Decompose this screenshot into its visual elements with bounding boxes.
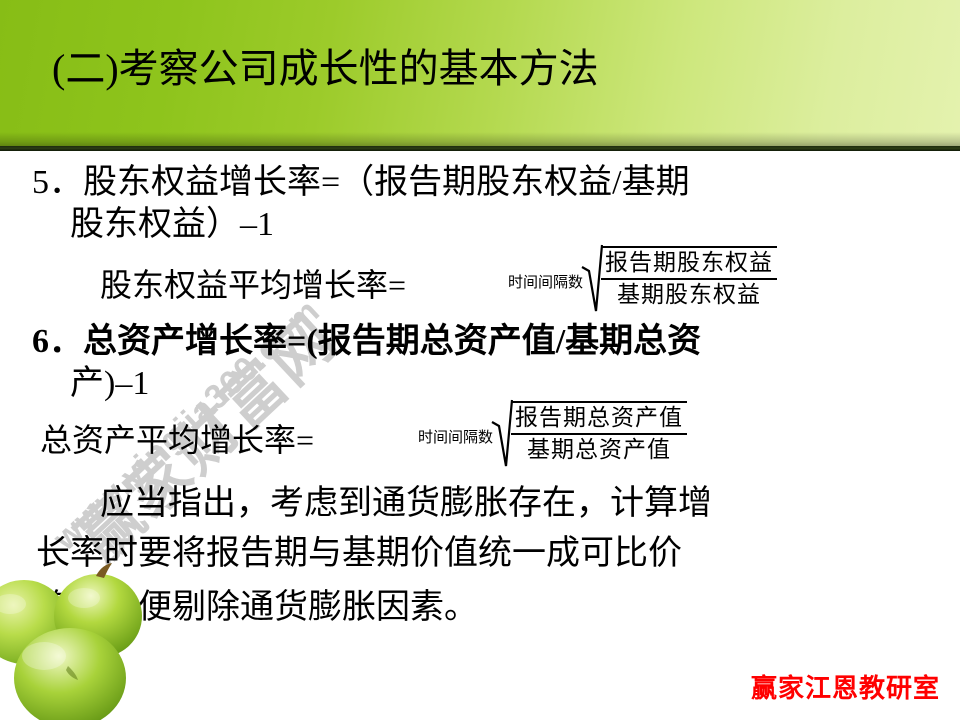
radical-index-label: 时间间隔数 bbox=[508, 275, 583, 290]
item6-numerator: 报告期总资产值 bbox=[511, 401, 687, 435]
item5-denominator: 基期股东权益 bbox=[601, 280, 777, 310]
header-divider-rule bbox=[0, 146, 960, 151]
item5-average-formula: 时间间隔数 报告期股东权益 基期股东权益 bbox=[508, 243, 777, 313]
item5-fraction: 报告期股东权益 基期股东权益 bbox=[601, 246, 777, 310]
item5-numerator: 报告期股东权益 bbox=[601, 246, 777, 280]
item6-text1: 总资产增长率=(报告期总资产值/基期总资 bbox=[83, 323, 701, 360]
header-shade bbox=[0, 132, 960, 146]
item5-number: 5． bbox=[32, 164, 83, 201]
item5-line1: 5．股东权益增长率=（报告期股东权益/基期 bbox=[32, 163, 690, 203]
item6-line2: 产)–1 bbox=[70, 364, 149, 404]
note-line1: 应当指出，考虑到通货膨胀存在，计算增 bbox=[100, 484, 712, 524]
item6-denominator: 基期总资产值 bbox=[511, 435, 687, 465]
item6-number: 6． bbox=[32, 323, 83, 360]
item6-fraction: 报告期总资产值 基期总资产值 bbox=[511, 401, 687, 465]
item5-line2: 股东权益）–1 bbox=[70, 205, 274, 245]
radical-index-label: 时间间隔数 bbox=[418, 430, 493, 445]
item6-average-formula: 时间间隔数 报告期总资产值 基期总资产值 bbox=[418, 398, 687, 468]
green-apples-image bbox=[0, 558, 242, 720]
radical-sign-icon bbox=[491, 398, 513, 468]
note-line2: 长率时要将报告期与基期价值统一成可比价 bbox=[36, 534, 682, 574]
item5-text1: 股东权益增长率=（报告期股东权益/基期 bbox=[83, 164, 690, 201]
page-title: (二)考察公司成长性的基本方法 bbox=[52, 44, 599, 94]
radical-sign-icon bbox=[581, 243, 603, 313]
note-line3: 格，以便剔除通货膨胀因素。 bbox=[36, 588, 478, 628]
item6-line1: 6．总资产增长率=(报告期总资产值/基期总资 bbox=[32, 322, 701, 362]
item5-average-label: 股东权益平均增长率= bbox=[100, 265, 406, 305]
item6-average-label: 总资产平均增长率= bbox=[40, 420, 314, 460]
slide-canvas: (二)考察公司成长性的基本方法 赢家财富网 www.yingjia360.com… bbox=[0, 0, 960, 720]
footer-brand-label: 赢家江恩教研室 bbox=[751, 674, 940, 704]
